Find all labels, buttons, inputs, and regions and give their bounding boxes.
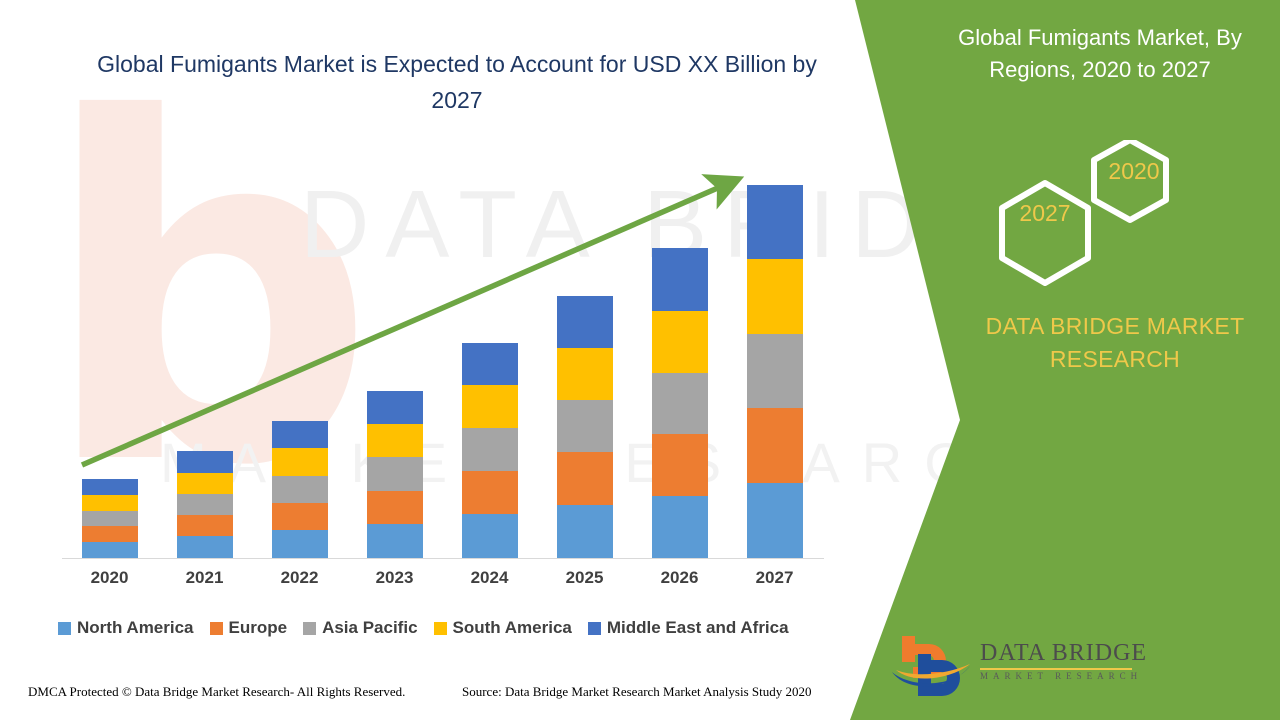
legend-swatch-icon (434, 622, 447, 635)
bar-segment-2027-asia-pacific (747, 334, 803, 408)
bar-column-2022 (272, 421, 328, 558)
bar-column-2025 (557, 296, 613, 558)
x-tick-2026: 2026 (635, 568, 725, 588)
legend-item-europe[interactable]: Europe (210, 618, 288, 638)
bar-segment-2025-europe (557, 452, 613, 504)
bar-segment-2021-south-america (177, 473, 233, 494)
bar-segment-2024-south-america (462, 385, 518, 428)
bar-segment-2027-north-america (747, 483, 803, 558)
bar-segment-2022-europe (272, 503, 328, 530)
bar-segment-2023-south-america (367, 424, 423, 457)
x-tick-2021: 2021 (160, 568, 250, 588)
bar-segment-2026-asia-pacific (652, 373, 708, 434)
bar-segment-2026-europe (652, 434, 708, 495)
hexagon-group: 2027 2020 (980, 140, 1190, 290)
bar-segment-2027-middle-east-and-africa (747, 185, 803, 259)
footer-copyright: DMCA Protected © Data Bridge Market Rese… (28, 684, 405, 700)
bar-segment-2022-north-america (272, 530, 328, 558)
x-tick-2025: 2025 (540, 568, 630, 588)
chart-title: Global Fumigants Market is Expected to A… (72, 46, 842, 118)
legend-item-asia-pacific[interactable]: Asia Pacific (303, 618, 417, 638)
hexagon-label-2027: 2027 (980, 200, 1110, 227)
dbmr-logo-text: DATA BRIDGE MARKET RESEARCH (980, 640, 1140, 681)
bar-segment-2025-middle-east-and-africa (557, 296, 613, 348)
bar-segment-2021-middle-east-and-africa (177, 451, 233, 472)
legend-item-middle-east-and-africa[interactable]: Middle East and Africa (588, 618, 789, 638)
x-tick-2024: 2024 (445, 568, 535, 588)
bar-segment-2020-europe (82, 526, 138, 542)
x-axis-tick-labels: 20202021202220232024202520262027 (62, 568, 822, 594)
bar-segment-2022-asia-pacific (272, 476, 328, 503)
x-tick-2027: 2027 (730, 568, 820, 588)
bar-segment-2020-north-america (82, 542, 138, 558)
bar-column-2023 (367, 391, 423, 558)
bar-segment-2026-north-america (652, 496, 708, 558)
legend-swatch-icon (588, 622, 601, 635)
bar-segment-2024-europe (462, 471, 518, 514)
chart-legend: North AmericaEuropeAsia PacificSouth Ame… (58, 616, 805, 640)
bar-segment-2020-middle-east-and-africa (82, 479, 138, 495)
side-panel-title: Global Fumigants Market, By Regions, 202… (940, 22, 1260, 86)
x-tick-2022: 2022 (255, 568, 345, 588)
legend-swatch-icon (303, 622, 316, 635)
bar-segment-2026-south-america (652, 311, 708, 373)
hexagon-label-2020: 2020 (1084, 158, 1184, 185)
bar-segment-2024-north-america (462, 514, 518, 558)
legend-label: Asia Pacific (322, 618, 417, 638)
bar-segment-2023-europe (367, 491, 423, 524)
bar-segment-2027-south-america (747, 259, 803, 333)
dbmr-logo-mark-icon (888, 630, 978, 702)
dbmr-logo-secondary: MARKET RESEARCH (980, 671, 1140, 681)
bar-column-2027 (747, 185, 803, 558)
x-axis-line (62, 558, 824, 559)
x-tick-2020: 2020 (65, 568, 155, 588)
legend-item-north-america[interactable]: North America (58, 618, 194, 638)
legend-swatch-icon (210, 622, 223, 635)
bar-segment-2025-asia-pacific (557, 400, 613, 452)
bar-segment-2021-asia-pacific (177, 494, 233, 515)
bar-segment-2020-asia-pacific (82, 511, 138, 526)
legend-label: Middle East and Africa (607, 618, 789, 638)
bar-segment-2027-europe (747, 408, 803, 482)
legend-label: Europe (229, 618, 288, 638)
bar-segment-2023-north-america (367, 524, 423, 558)
bar-column-2024 (462, 343, 518, 558)
bar-segment-2022-south-america (272, 448, 328, 475)
bar-segment-2023-middle-east-and-africa (367, 391, 423, 424)
bar-segment-2020-south-america (82, 495, 138, 511)
x-tick-2023: 2023 (350, 568, 440, 588)
bar-segment-2023-asia-pacific (367, 457, 423, 490)
bar-column-2026 (652, 248, 708, 558)
bar-segment-2024-asia-pacific (462, 428, 518, 470)
side-panel-brand: DATA BRIDGE MARKET RESEARCH (955, 310, 1275, 376)
bar-column-2021 (177, 451, 233, 558)
legend-swatch-icon (58, 622, 71, 635)
bar-segment-2026-middle-east-and-africa (652, 248, 708, 310)
legend-item-south-america[interactable]: South America (434, 618, 572, 638)
bar-column-2020 (82, 479, 138, 558)
bar-segment-2024-middle-east-and-africa (462, 343, 518, 385)
footer-source: Source: Data Bridge Market Research Mark… (462, 684, 811, 700)
legend-label: North America (77, 618, 194, 638)
dbmr-logo: DATA BRIDGE MARKET RESEARCH (888, 630, 1138, 702)
bar-segment-2022-middle-east-and-africa (272, 421, 328, 448)
bar-segment-2025-south-america (557, 348, 613, 400)
bar-chart-plot (62, 160, 822, 558)
bar-segment-2021-europe (177, 515, 233, 536)
bar-segment-2021-north-america (177, 536, 233, 558)
bar-segment-2025-north-america (557, 505, 613, 558)
slide-canvas: b DATA BRIDGE MARKET RESEARCH Global Fum… (0, 0, 1280, 720)
dbmr-logo-primary: DATA BRIDGE (980, 640, 1140, 667)
dbmr-logo-rule (980, 668, 1132, 670)
legend-label: South America (453, 618, 572, 638)
